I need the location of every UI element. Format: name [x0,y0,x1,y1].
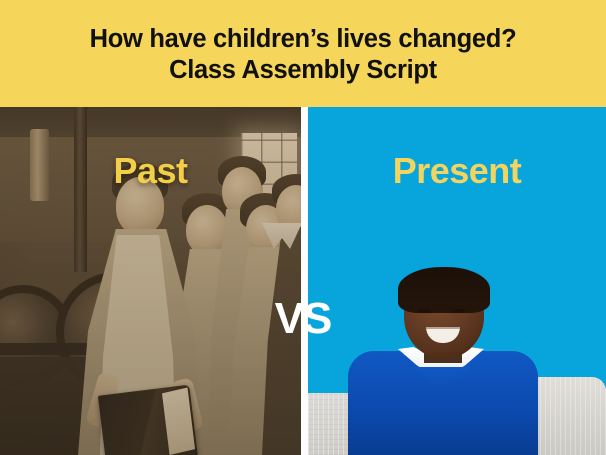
page-title-line-1: How have children’s lives changed? [90,24,517,55]
open-book [98,385,198,455]
past-label: Past [0,151,301,191]
book-page [162,388,195,455]
class-assembly-title-slide: How have children’s lives changed? Class… [0,0,606,455]
panel-divider [301,107,308,455]
page-title-line-2: Class Assembly Script [169,55,437,86]
versus-label: VS [0,295,606,343]
header-banner: How have children’s lives changed? Class… [0,0,606,107]
present-label: Present [308,151,606,191]
comparison-split-view: Past Present VS [0,107,606,455]
